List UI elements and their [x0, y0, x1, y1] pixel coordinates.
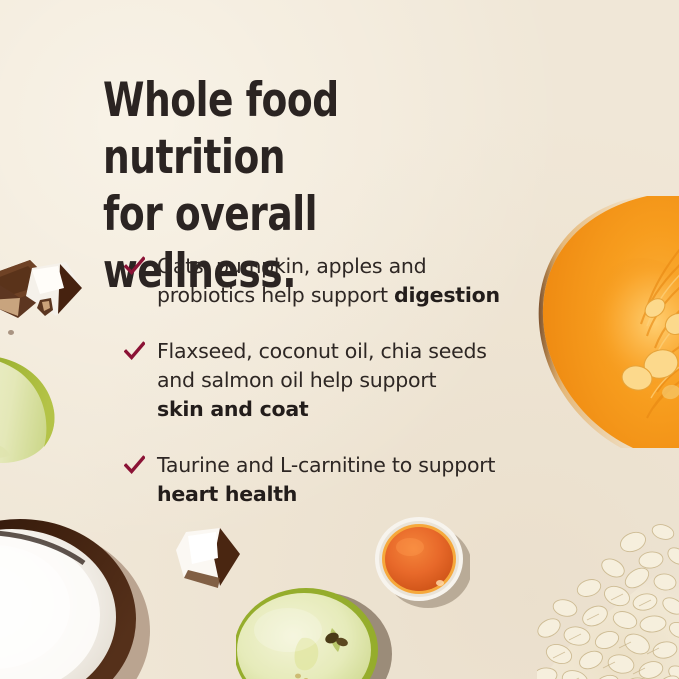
- check-icon: [124, 341, 145, 362]
- list-item: Taurine and L-carnitine to supportheart …: [124, 451, 594, 509]
- coconut-husk-fragment-image: [37, 298, 54, 317]
- salmon-oil-dish-image: [374, 513, 470, 609]
- check-icon: [124, 455, 145, 476]
- crumb-speck: [8, 330, 14, 335]
- benefits-list: Oats, pumpkin, apples andprobiotics help…: [124, 252, 594, 509]
- coconut-husk-piece-white-image: [26, 262, 84, 318]
- coconut-chunk-image: [176, 528, 242, 592]
- green-apple-half-image: [236, 580, 394, 679]
- check-icon: [124, 256, 145, 277]
- coconut-half-image: [0, 519, 164, 679]
- benefit-text: Flaxseed, coconut oil, chia seedsand sal…: [157, 339, 487, 421]
- list-item: Oats, pumpkin, apples andprobiotics help…: [124, 252, 594, 310]
- product-benefits-poster: Whole food nutrition for overall wellnes…: [0, 0, 679, 679]
- benefit-text: Taurine and L-carnitine to supportheart …: [157, 453, 495, 506]
- list-item: Flaxseed, coconut oil, chia seedsand sal…: [124, 337, 594, 424]
- green-apple-slice-image: [0, 353, 62, 465]
- benefit-text: Oats, pumpkin, apples andprobiotics help…: [157, 254, 500, 307]
- rolled-oats-image: [537, 512, 679, 679]
